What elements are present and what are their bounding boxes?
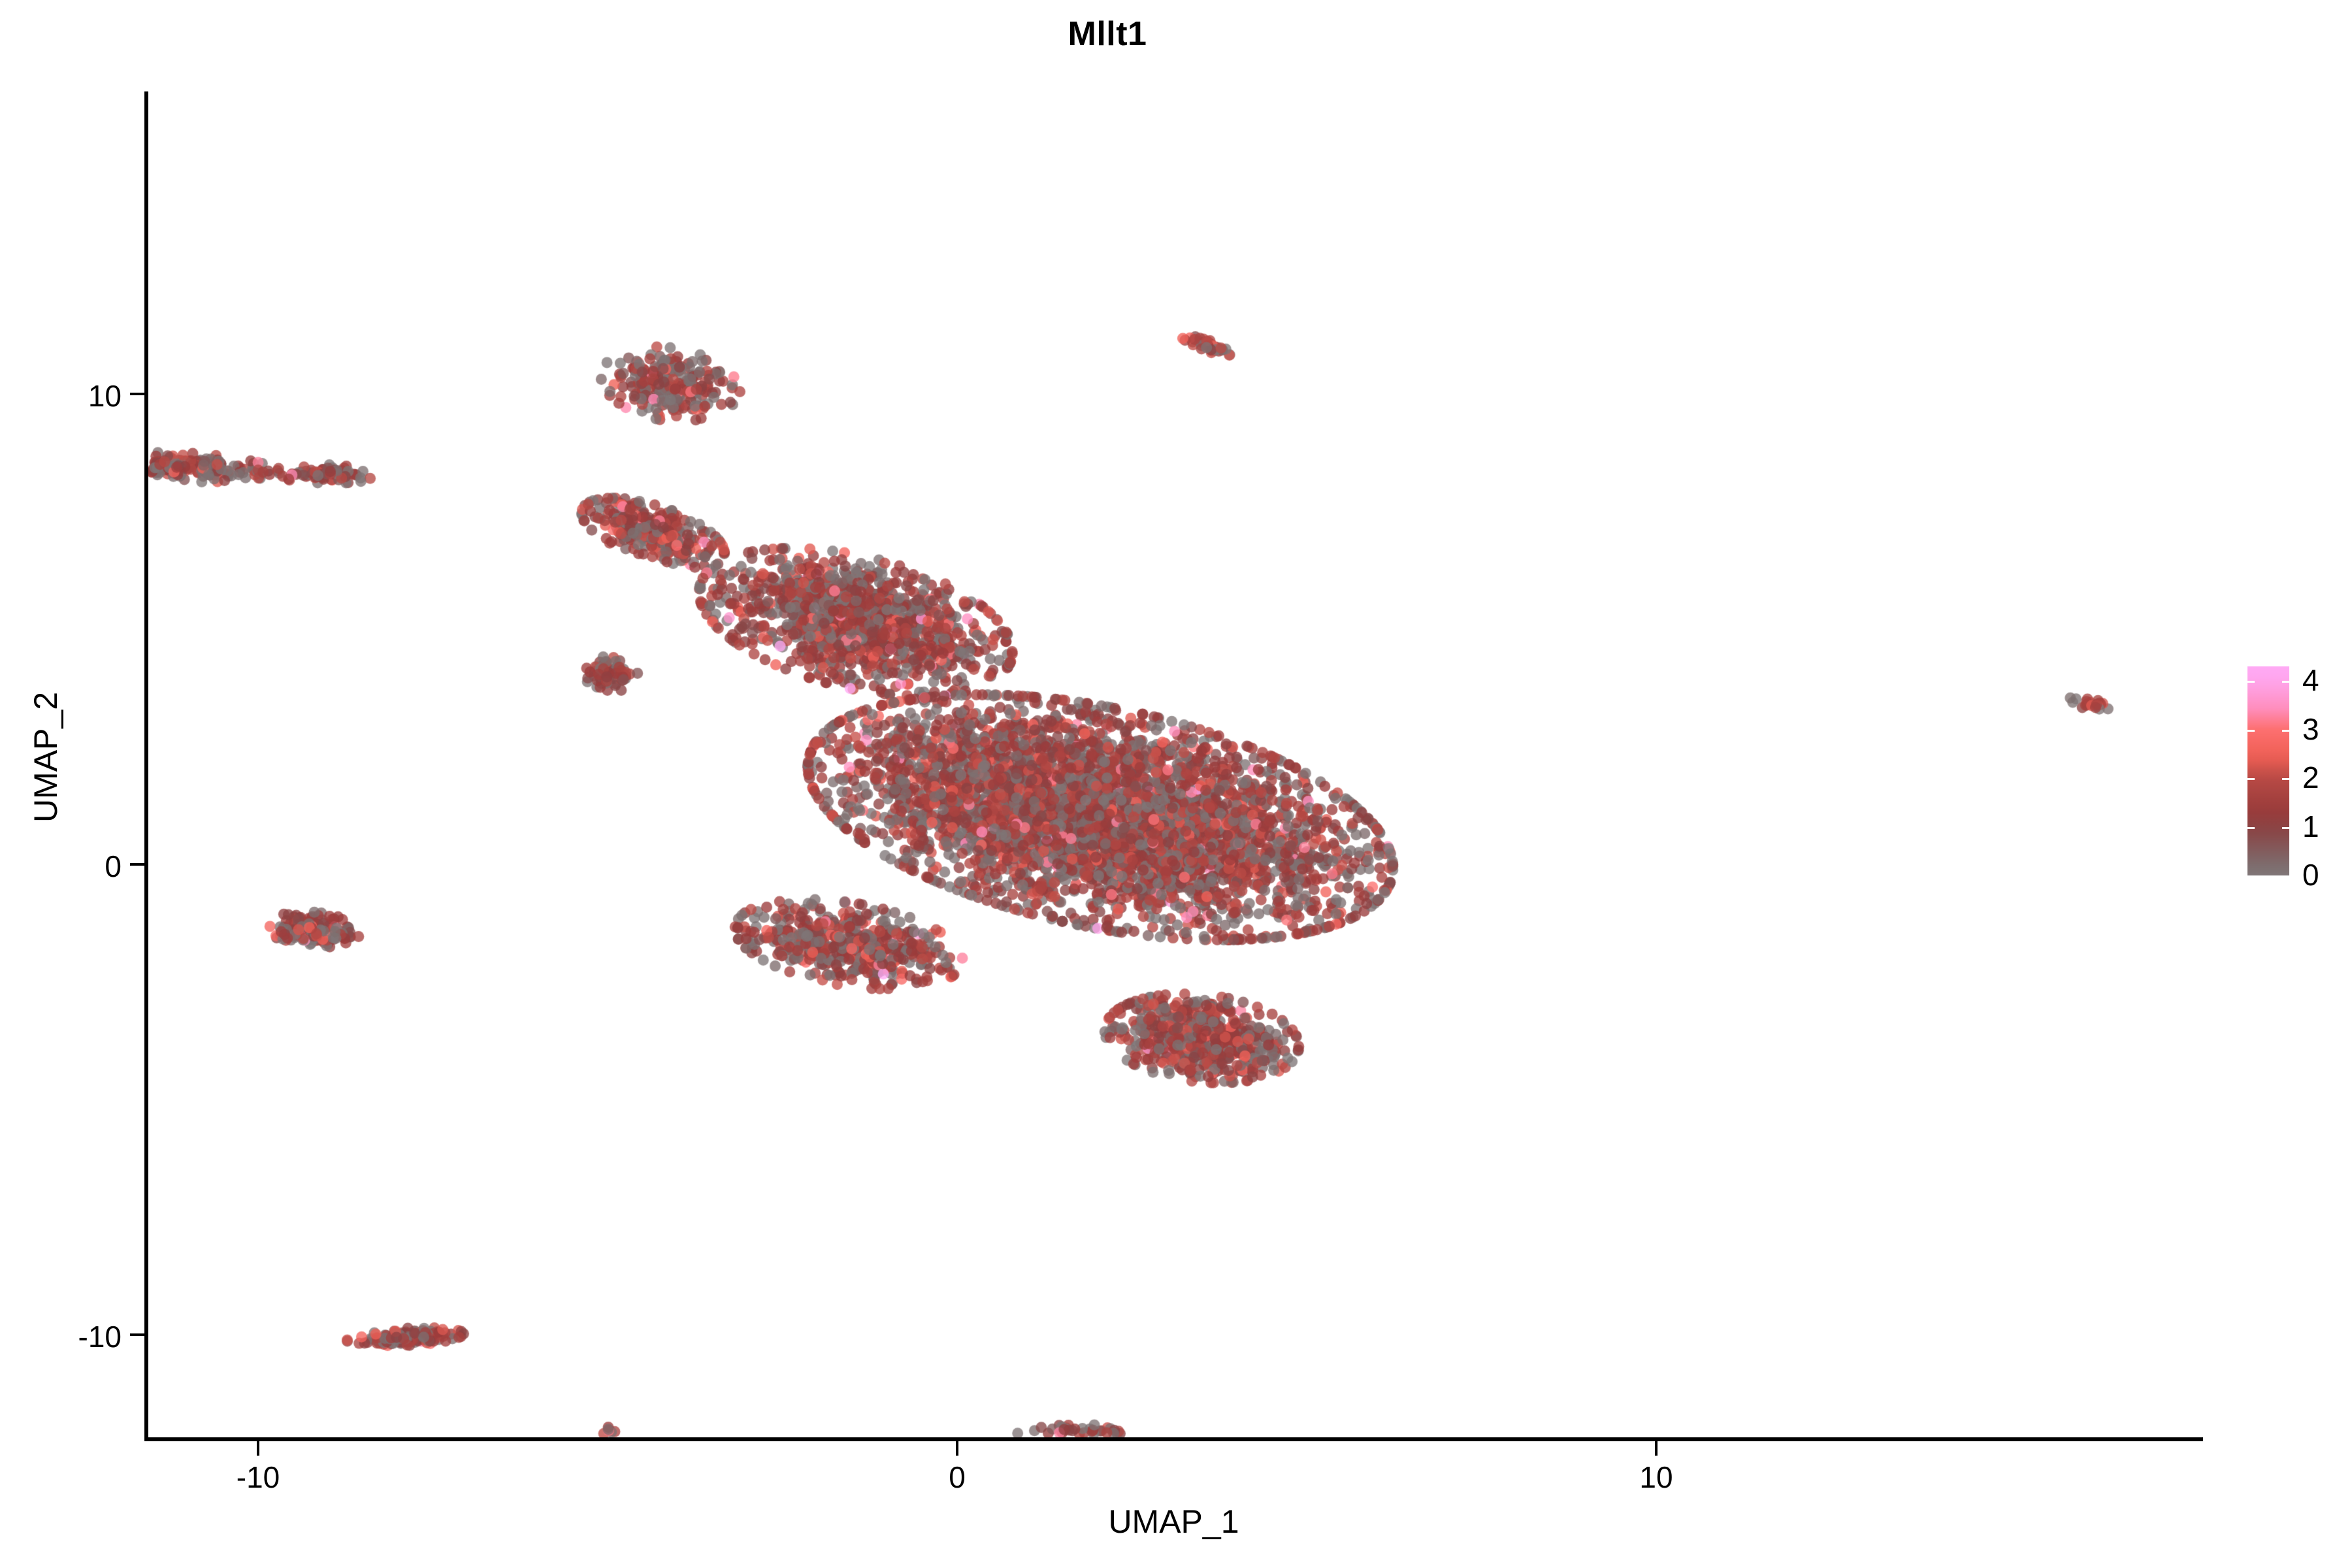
colorbar-label: 4 xyxy=(2302,665,2319,695)
x-axis-line xyxy=(144,1437,2203,1441)
y-axis-ticklabel: 10 xyxy=(0,378,122,414)
y-axis-line xyxy=(144,91,148,1441)
colorbar-tickmark xyxy=(2247,730,2255,732)
colorbar-tickmark xyxy=(2282,875,2289,877)
x-axis-ticklabel: 0 xyxy=(892,1460,1022,1495)
umap-feature-plot: Mllt1 -10 0 10 10 0 -10 UMAP_1 UMAP_2 4 … xyxy=(0,0,2352,1568)
colorbar-tickmark xyxy=(2247,827,2255,829)
colorbar-tickmark xyxy=(2282,681,2289,683)
x-axis-ticklabel: 10 xyxy=(1591,1460,1722,1495)
x-axis-title: UMAP_1 xyxy=(144,1503,2203,1541)
colorbar-tickmark xyxy=(2282,827,2289,829)
y-axis-tick xyxy=(130,1333,144,1336)
colorbar-tickmark xyxy=(2247,778,2255,780)
x-axis-ticklabel: -10 xyxy=(193,1460,323,1495)
colorbar-label: 2 xyxy=(2302,762,2319,792)
y-axis-title: UMAP_2 xyxy=(27,431,65,1084)
colorbar-gradient xyxy=(2247,666,2289,875)
colorbar-tickmark xyxy=(2247,681,2255,683)
colorbar-legend: 4 3 2 1 0 xyxy=(2247,666,2345,889)
x-axis-tick xyxy=(257,1441,259,1456)
colorbar-tickmark xyxy=(2247,875,2255,877)
scatter-plot-points xyxy=(0,0,2352,1568)
colorbar-tickmark xyxy=(2282,730,2289,732)
x-axis-tick xyxy=(1655,1441,1658,1456)
y-axis-ticklabel: -10 xyxy=(0,1319,122,1354)
y-axis-tick xyxy=(130,393,144,395)
colorbar-label: 0 xyxy=(2302,860,2319,890)
y-axis-tick xyxy=(130,863,144,866)
colorbar-label: 3 xyxy=(2302,714,2319,744)
colorbar-label: 1 xyxy=(2302,811,2319,841)
page-title: Mllt1 xyxy=(0,14,2215,54)
x-axis-tick xyxy=(956,1441,958,1456)
colorbar-tickmark xyxy=(2282,778,2289,780)
